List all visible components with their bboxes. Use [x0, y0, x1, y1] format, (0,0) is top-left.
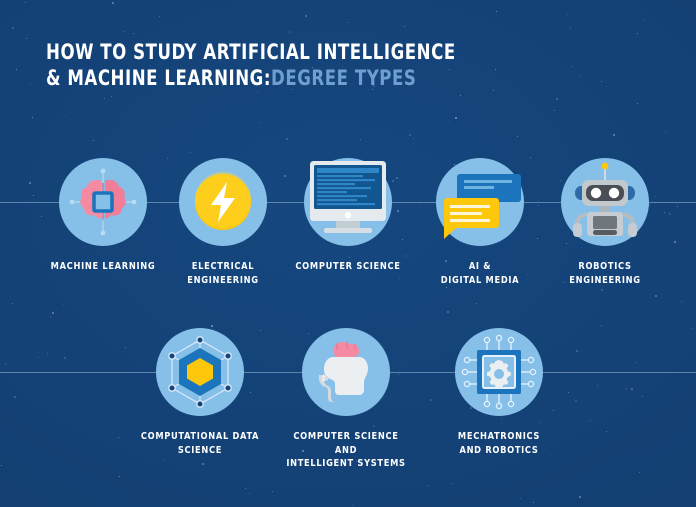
icon-disc: [302, 328, 390, 416]
title-line-2: & MACHINE LEARNING:DEGREE TYPES: [46, 66, 456, 92]
title-line-1: HOW TO STUDY ARTIFICIAL INTELLIGENCE: [46, 40, 456, 66]
icon-disc: [436, 158, 524, 246]
node-label: AI &DIGITAL MEDIA: [420, 260, 540, 287]
lightning-bolt-icon: [191, 170, 255, 234]
robot-icon: [567, 159, 643, 245]
desktop-monitor-icon: [298, 148, 398, 248]
title-main-text: & MACHINE LEARNING:: [46, 66, 271, 90]
node-label: ELECTRICALENGINEERING: [163, 260, 283, 287]
node-ai-digital-media[interactable]: AI &DIGITAL MEDIA: [415, 150, 545, 287]
icon-disc: [59, 158, 147, 246]
icon-disc: [179, 158, 267, 246]
node-label: COMPUTER SCIENCE: [288, 260, 408, 274]
title-accent-text: DEGREE TYPES: [271, 66, 416, 90]
node-robotics-engineering[interactable]: ROBOTICSENGINEERING: [540, 150, 670, 287]
icon-disc: [304, 158, 392, 246]
node-label: COMPUTATIONAL DATASCIENCE: [140, 430, 260, 457]
page-title: HOW TO STUDY ARTIFICIAL INTELLIGENCE & M…: [46, 40, 512, 91]
node-computer-science[interactable]: COMPUTER SCIENCE: [283, 150, 413, 274]
node-computational-data-science[interactable]: COMPUTATIONAL DATASCIENCE: [135, 320, 265, 457]
node-cs-intelligent-systems[interactable]: COMPUTER SCIENCE ANDINTELLIGENT SYSTEMS: [281, 320, 411, 471]
brain-chip-icon: [64, 163, 142, 241]
icon-disc: [455, 328, 543, 416]
speech-bubbles-icon: [434, 160, 526, 244]
icon-disc: [156, 328, 244, 416]
cpu-gear-icon: [459, 332, 539, 412]
head-brain-icon: [310, 334, 382, 410]
node-machine-learning[interactable]: MACHINE LEARNING: [38, 150, 168, 274]
degree-row-1: MACHINE LEARNING ELECTRICALENGINEERING: [0, 150, 696, 300]
node-label: COMPUTER SCIENCE ANDINTELLIGENT SYSTEMS: [286, 430, 406, 471]
node-label: MECHATRONICSAND ROBOTICS: [439, 430, 559, 457]
infographic-canvas: HOW TO STUDY ARTIFICIAL INTELLIGENCE & M…: [0, 0, 696, 507]
node-label: ROBOTICSENGINEERING: [545, 260, 665, 287]
icon-disc: [561, 158, 649, 246]
node-electrical-engineering[interactable]: ELECTRICALENGINEERING: [158, 150, 288, 287]
hexagon-network-icon: [160, 332, 240, 412]
degree-row-2: COMPUTATIONAL DATASCIENCE COMPUTER SCIEN…: [0, 320, 696, 470]
node-mechatronics-robotics[interactable]: MECHATRONICSAND ROBOTICS: [434, 320, 564, 457]
node-label: MACHINE LEARNING: [43, 260, 163, 274]
